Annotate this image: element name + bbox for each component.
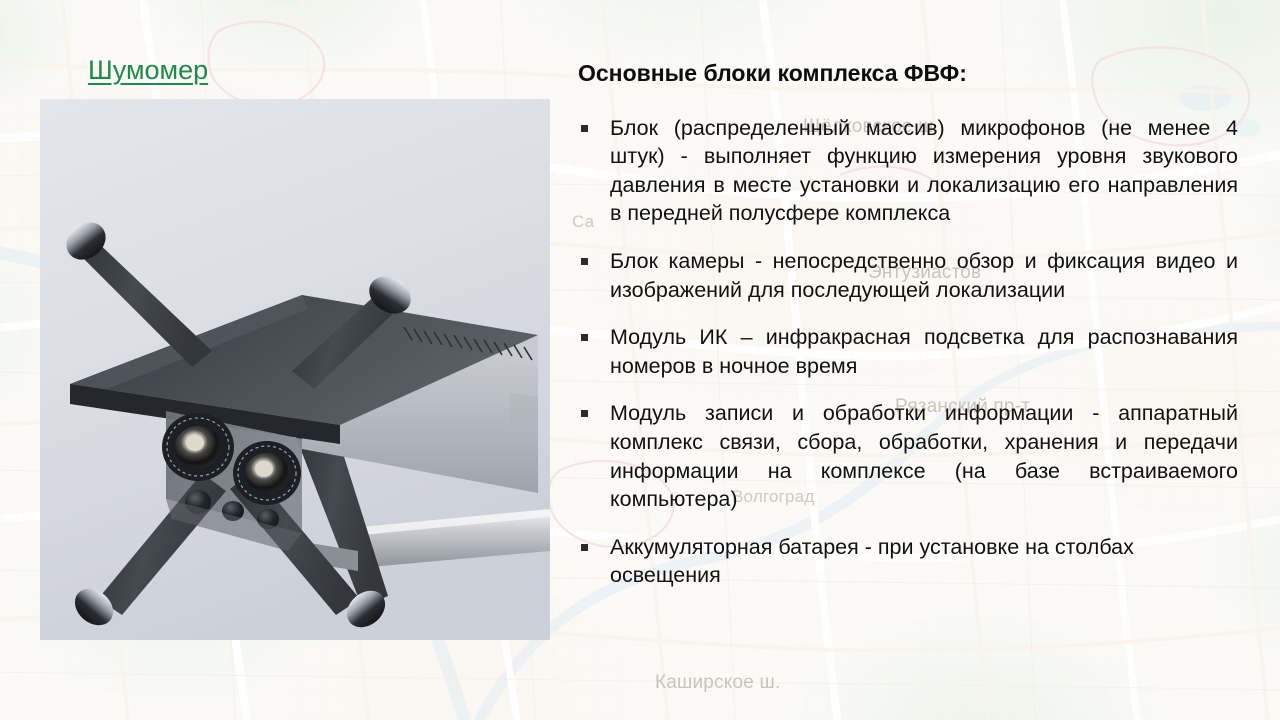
bullet-marker-icon <box>581 334 588 341</box>
list-item-text: Модуль ИК – инфракрасная подсветка для р… <box>610 325 1238 378</box>
list-item: Модуль ИК – инфракрасная подсветка для р… <box>578 323 1238 380</box>
list-item: Аккумуляторная батарея - при установке н… <box>578 533 1238 590</box>
page-title: Шумомер <box>88 55 208 86</box>
content-panel: Основные блоки комплекса ФВФ: Блок (расп… <box>578 60 1238 590</box>
list-item: Модуль записи и обработки информации - а… <box>578 399 1238 513</box>
component-list: Блок (распределенный массив) микрофонов … <box>578 114 1238 590</box>
slide-canvas: Щёлковское ш. Са Энтузиастов Рязанский п… <box>0 0 1280 720</box>
list-item-text: Блок (распределенный массив) микрофонов … <box>610 116 1238 226</box>
bullet-marker-icon <box>581 544 588 551</box>
noise-meter-render <box>40 99 550 640</box>
list-item-text: Блок камеры - непосредственно обзор и фи… <box>610 249 1238 302</box>
camera-lens-upper <box>162 413 234 481</box>
camera-lens-lower <box>233 441 301 505</box>
list-item-text: Модуль записи и обработки информации - а… <box>610 401 1238 511</box>
bullet-marker-icon <box>581 125 588 132</box>
list-item: Блок камеры - непосредственно обзор и фи… <box>578 247 1238 304</box>
bullet-marker-icon <box>581 410 588 417</box>
device-photo <box>40 99 550 640</box>
bullet-marker-icon <box>581 258 588 265</box>
map-label-kashirskoe: Каширское ш. <box>655 672 780 694</box>
content-heading: Основные блоки комплекса ФВФ: <box>578 60 1238 88</box>
list-item-text: Аккумуляторная батарея - при установке н… <box>610 535 1134 588</box>
list-item: Блок (распределенный массив) микрофонов … <box>578 114 1238 228</box>
